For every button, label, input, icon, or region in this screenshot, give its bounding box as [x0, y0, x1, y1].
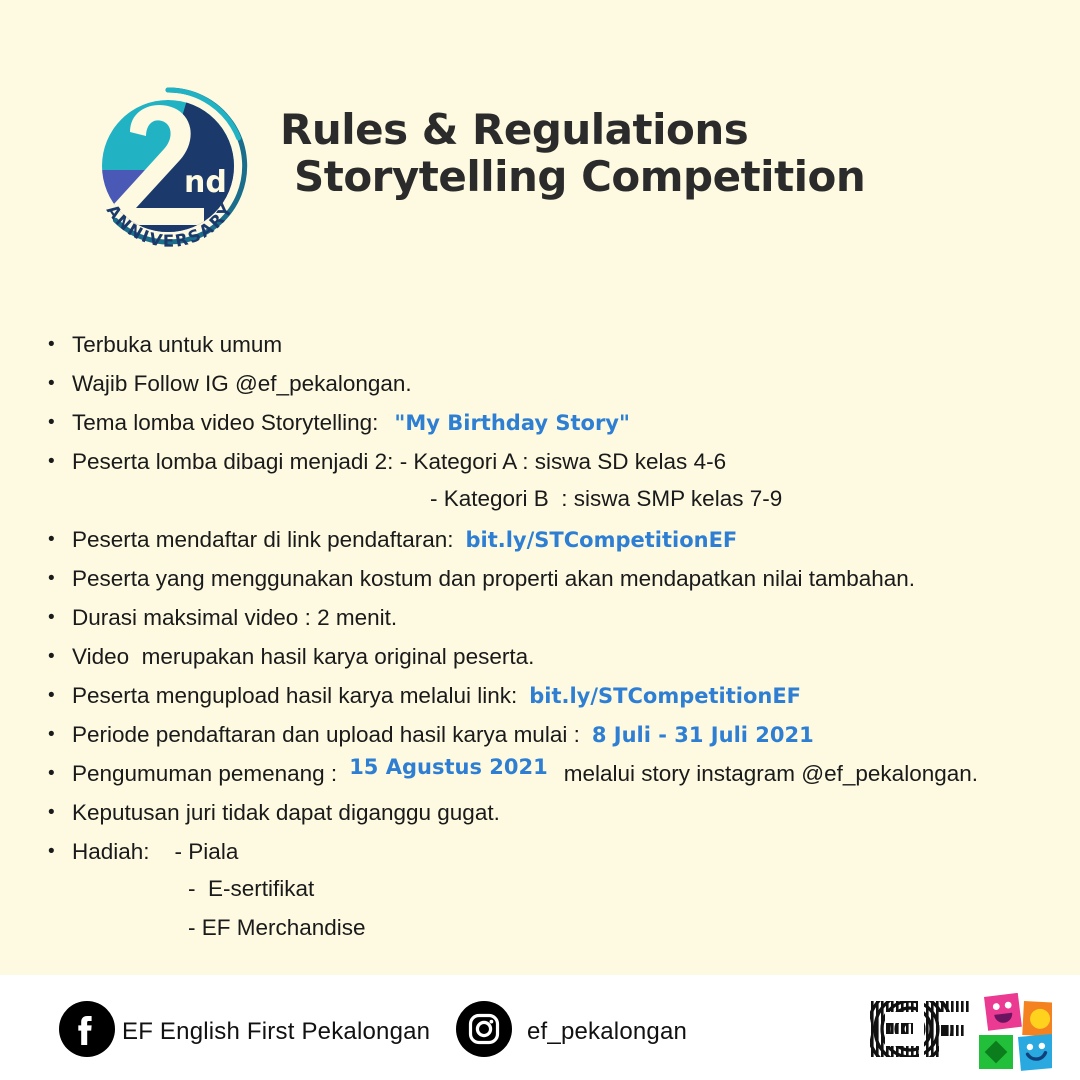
list-item: • Peserta lomba dibagi menjadi 2: - Kate…: [48, 447, 1048, 481]
facebook-label: EF English First Pekalongan: [122, 1018, 430, 1046]
rule-text: Peserta mengupload hasil karya melalui l…: [72, 681, 517, 711]
rule-subtext: - Kategori B : siswa SMP kelas 7-9: [430, 486, 782, 512]
bullet-icon: •: [48, 530, 72, 549]
bullet-icon: •: [48, 569, 72, 588]
prize-item: - EF Merchandise: [188, 915, 366, 941]
rules-list: • Terbuka untuk umum • Wajib Follow IG @…: [48, 330, 1048, 954]
rule-text: Video merupakan hasil karya original pes…: [72, 642, 534, 672]
poster-header: nd ANNIVERSARY Rules & Regulations Story…: [78, 80, 1018, 275]
ef-tiles: [979, 993, 1052, 1071]
instagram-label: ef_pekalongan: [527, 1018, 687, 1046]
ef-tile-orange: [1022, 1001, 1052, 1037]
bullet-icon: •: [48, 686, 72, 705]
bullet-icon: •: [48, 452, 72, 471]
list-item: • Durasi maksimal video : 2 menit.: [48, 603, 1048, 637]
bullet-icon: •: [48, 335, 72, 354]
list-item: • Tema lomba video Storytelling: "My Bir…: [48, 408, 1048, 442]
list-item: • Peserta mendaftar di link pendaftaran:…: [48, 525, 1048, 559]
rule-text: Terbuka untuk umum: [72, 330, 282, 360]
instagram-icon: [455, 1000, 513, 1063]
list-item: • Pengumuman pemenang : 15 Agustus 2021 …: [48, 759, 1048, 793]
ef-wordmark: [866, 993, 976, 1071]
title-block: Rules & Regulations Storytelling Competi…: [280, 80, 865, 200]
list-item: • Video merupakan hasil karya original p…: [48, 642, 1048, 676]
prize-item: - E-sertifikat: [188, 876, 314, 902]
rule-text-after: melalui story instagram @ef_pekalongan.: [564, 759, 978, 789]
list-item: • Keputusan juri tidak dapat diganggu gu…: [48, 798, 1048, 832]
bullet-icon: •: [48, 725, 72, 744]
announcement-date: 15 Agustus 2021: [349, 754, 548, 782]
rule-text: Keputusan juri tidak dapat diganggu guga…: [72, 798, 500, 828]
instagram-handle[interactable]: ef_pekalongan: [455, 1000, 687, 1063]
list-item: • Hadiah: - Piala: [48, 837, 1048, 871]
rule-text: Hadiah: - Piala: [72, 837, 238, 867]
rule-text: Wajib Follow IG @ef_pekalongan.: [72, 369, 412, 399]
ef-brand-logo: [866, 993, 1052, 1071]
rule-text: Peserta mendaftar di link pendaftaran:: [72, 525, 453, 555]
bullet-icon: •: [48, 647, 72, 666]
ef-tile-pink: [984, 993, 1022, 1031]
page-title-line2: Storytelling Competition: [294, 153, 865, 200]
bullet-icon: •: [48, 842, 72, 861]
list-sub-item: - Kategori B : siswa SMP kelas 7-9: [48, 486, 1048, 520]
facebook-icon: [58, 1000, 116, 1063]
rule-text: Tema lomba video Storytelling:: [72, 408, 378, 438]
ef-tile-blue: [1018, 1034, 1052, 1071]
2nd-anniversary-badge-icon: nd ANNIVERSARY: [78, 80, 258, 260]
rule-text: Durasi maksimal video : 2 menit.: [72, 603, 397, 633]
list-item: • Peserta yang menggunakan kostum dan pr…: [48, 564, 1048, 598]
list-item: • Peserta mengupload hasil karya melalui…: [48, 681, 1048, 715]
bullet-icon: •: [48, 764, 72, 783]
registration-period-date: 8 Juli - 31 Juli 2021: [592, 722, 814, 750]
list-sub-item: - E-sertifikat: [48, 876, 1048, 910]
list-item: • Periode pendaftaran dan upload hasil k…: [48, 720, 1048, 754]
rule-text: Peserta lomba dibagi menjadi 2: - Katego…: [72, 447, 726, 477]
ef-tile-green: [979, 1035, 1013, 1069]
list-item: • Terbuka untuk umum: [48, 330, 1048, 364]
registration-link[interactable]: bit.ly/STCompetitionEF: [465, 527, 737, 555]
poster-root: nd ANNIVERSARY Rules & Regulations Story…: [0, 0, 1080, 1080]
bullet-icon: •: [48, 374, 72, 393]
upload-link[interactable]: bit.ly/STCompetitionEF: [529, 683, 801, 711]
ordinal-nd-text: nd: [184, 165, 227, 200]
list-sub-item: - EF Merchandise: [48, 915, 1048, 949]
rule-text: Periode pendaftaran dan upload hasil kar…: [72, 720, 580, 750]
theme-accent-text: "My Birthday Story": [394, 410, 630, 438]
rule-text: Pengumuman pemenang :: [72, 759, 337, 789]
page-title-line1: Rules & Regulations: [280, 106, 865, 153]
list-item: • Wajib Follow IG @ef_pekalongan.: [48, 369, 1048, 403]
bullet-icon: •: [48, 413, 72, 432]
bullet-icon: •: [48, 803, 72, 822]
rule-text: Peserta yang menggunakan kostum dan prop…: [72, 564, 915, 594]
bullet-icon: •: [48, 608, 72, 627]
facebook-handle[interactable]: EF English First Pekalongan: [58, 1000, 430, 1063]
